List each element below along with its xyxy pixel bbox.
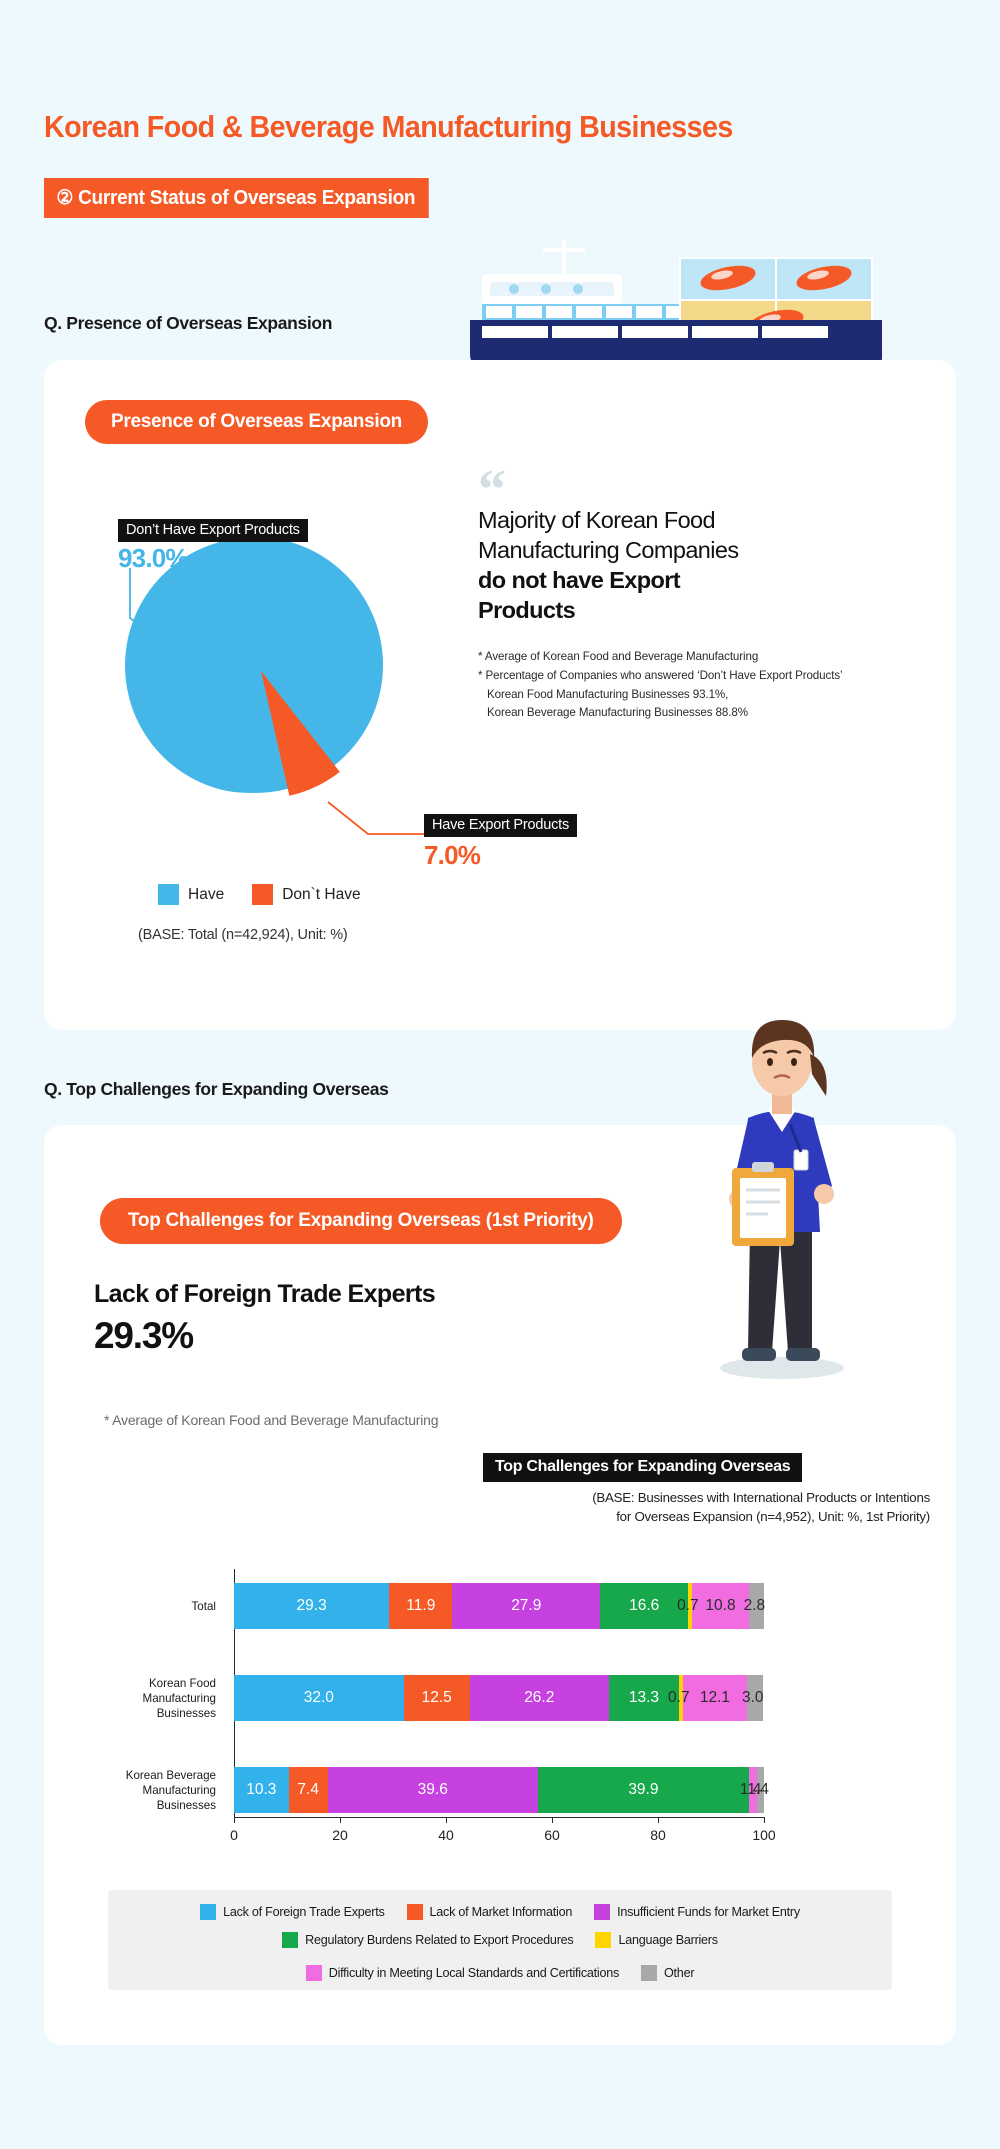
legend-swatch-dont-have	[252, 884, 273, 905]
legend-swatch	[594, 1904, 610, 1920]
headline-top-challenge-value: 29.3%	[94, 1315, 193, 1357]
bar-segment: 39.6	[328, 1767, 538, 1813]
legend-label-dont-have: Don`t Have	[282, 886, 360, 904]
legend-label: Lack of Market Information	[430, 1905, 573, 1919]
legend-item-have: Have	[158, 884, 224, 905]
x-axis-tick-label: 60	[544, 1827, 560, 1843]
bar-segment: 12.5	[404, 1675, 470, 1721]
bar-segment: 12.1	[683, 1675, 747, 1721]
bar-row-label: Korean BeverageManufacturingBusinesses	[94, 1768, 216, 1813]
section2-average-note: * Average of Korean Food and Beverage Ma…	[104, 1412, 438, 1428]
x-axis-tick-label: 80	[650, 1827, 666, 1843]
bar-segment-outside-value: 1.4	[747, 1781, 769, 1799]
bar-segment-outside-value: 2.8	[744, 1597, 766, 1615]
legend-item: Difficulty in Meeting Local Standards an…	[306, 1965, 619, 1981]
bar-segment: 26.2	[470, 1675, 609, 1721]
stacked-bar-chart: 29.311.927.916.610.832.012.526.213.312.1…	[44, 1555, 956, 1850]
quote-line-1: Majority of Korean Food	[478, 507, 715, 533]
x-axis-tick	[658, 1817, 659, 1823]
legend-item-dont-have: Don`t Have	[252, 884, 360, 905]
legend-label: Regulatory Burdens Related to Export Pro…	[305, 1933, 573, 1947]
bar-row-label-line: Korean Food	[94, 1676, 216, 1691]
headline-top-challenge: Lack of Foreign Trade Experts	[94, 1280, 435, 1309]
legend-label: Other	[664, 1966, 694, 1980]
bar-chart-legend: Lack of Foreign Trade ExpertsLack of Mar…	[108, 1890, 892, 1990]
bar-segment: 10.3	[234, 1767, 289, 1813]
legend-item: Other	[641, 1965, 694, 1981]
x-axis-tick	[552, 1817, 553, 1823]
base-line-2: for Overseas Expansion (n=4,952), Unit: …	[616, 1509, 930, 1524]
pill-presence-overseas: Presence of Overseas Expansion	[85, 400, 428, 444]
legend-item: Lack of Foreign Trade Experts	[200, 1904, 384, 1920]
legend-label: Lack of Foreign Trade Experts	[223, 1905, 384, 1919]
footnote-2: * Percentage of Companies who answered ‘…	[478, 669, 843, 682]
legend-item: Insufficient Funds for Market Entry	[594, 1904, 800, 1920]
legend-item: Language Barriers	[595, 1932, 717, 1948]
quote-text: Majority of Korean Food Manufacturing Co…	[478, 505, 778, 625]
callout-dont-have-value: 93.0%	[118, 543, 188, 574]
legend-swatch	[200, 1904, 216, 1920]
section1-footnotes: * Average of Korean Food and Beverage Ma…	[478, 648, 898, 723]
bar-segment-outside-value: 0.7	[668, 1689, 690, 1707]
legend-swatch	[407, 1904, 423, 1920]
legend-swatch-have	[158, 884, 179, 905]
legend-label-have: Have	[188, 886, 224, 904]
legend-label: Language Barriers	[618, 1933, 717, 1947]
bar-row-label: Korean FoodManufacturingBusinesses	[94, 1676, 216, 1721]
bar-segment-outside-value: 3.0	[742, 1689, 764, 1707]
pie-base-note: (BASE: Total (n=42,924), Unit: %)	[138, 927, 348, 943]
bar-segment: 29.3	[234, 1583, 389, 1629]
page-title: Korean Food & Beverage Manufacturing Bus…	[44, 110, 733, 145]
legend-label: Insufficient Funds for Market Entry	[617, 1905, 800, 1919]
x-axis-tick-label: 20	[332, 1827, 348, 1843]
pie-legend: Have Don`t Have	[158, 884, 379, 905]
x-axis-tick	[234, 1817, 235, 1823]
quote-line-3: do not have Export Products	[478, 567, 680, 623]
bar-chart-title: Top Challenges for Expanding Overseas	[483, 1453, 802, 1482]
legend-swatch	[282, 1932, 298, 1948]
bar-segment-outside-value: 0.7	[677, 1597, 699, 1615]
worker-illustration	[690, 1000, 870, 1390]
pill-top-challenges: Top Challenges for Expanding Overseas (1…	[100, 1198, 622, 1244]
bar-segment: 39.9	[538, 1767, 749, 1813]
bar-row-label-line: Businesses	[94, 1706, 216, 1721]
bar-row-label-line: Korean Beverage	[94, 1768, 216, 1783]
question-heading-1: Q. Presence of Overseas Expansion	[44, 313, 332, 334]
infographic-page: Korean Food & Beverage Manufacturing Bus…	[0, 0, 1000, 2149]
bar-row-label-line: Businesses	[94, 1798, 216, 1813]
footnote-4: Korean Beverage Manufacturing Businesses…	[478, 704, 898, 723]
legend-swatch	[306, 1965, 322, 1981]
x-axis-tick-label: 0	[230, 1827, 238, 1843]
bar-segment: 11.9	[389, 1583, 452, 1629]
bar-segment: 7.4	[289, 1767, 328, 1813]
footnote-1: * Average of Korean Food and Beverage Ma…	[478, 650, 758, 663]
bar-segment: 10.8	[692, 1583, 749, 1629]
bar-row-label-line: Total	[94, 1599, 216, 1614]
bar-segment: 27.9	[452, 1583, 600, 1629]
chart-x-axis	[234, 1817, 764, 1818]
callout-have-label: Have Export Products	[424, 814, 577, 837]
x-axis-tick	[764, 1817, 765, 1823]
footnote-3: Korean Food Manufacturing Businesses 93.…	[478, 686, 898, 705]
x-axis-tick-label: 100	[752, 1827, 775, 1843]
bar-row-label: Total	[94, 1599, 216, 1614]
callout-have-value: 7.0%	[424, 840, 480, 871]
legend-item: Regulatory Burdens Related to Export Pro…	[282, 1932, 573, 1948]
bar-row: 10.37.439.639.9	[234, 1767, 764, 1813]
legend-swatch	[641, 1965, 657, 1981]
x-axis-tick-label: 40	[438, 1827, 454, 1843]
section-badge: ② Current Status of Overseas Expansion	[44, 178, 429, 218]
x-axis-tick	[340, 1817, 341, 1823]
bar-segment: 32.0	[234, 1675, 404, 1721]
callout-dont-have-label: Don’t Have Export Products	[118, 519, 308, 542]
legend-label: Difficulty in Meeting Local Standards an…	[329, 1966, 619, 1980]
leader-line-have	[326, 800, 436, 850]
base-line-1: (BASE: Businesses with International Pro…	[592, 1490, 930, 1505]
question-heading-2: Q. Top Challenges for Expanding Overseas	[44, 1079, 389, 1100]
bar-row-label-line: Manufacturing	[94, 1691, 216, 1706]
quote-line-2: Manufacturing Companies	[478, 537, 739, 563]
legend-item: Lack of Market Information	[407, 1904, 573, 1920]
bar-segment: 16.6	[600, 1583, 688, 1629]
leader-line-dont-have	[126, 566, 206, 656]
x-axis-tick	[446, 1817, 447, 1823]
bar-chart-base-note: (BASE: Businesses with International Pro…	[410, 1488, 930, 1527]
bar-row-label-line: Manufacturing	[94, 1783, 216, 1798]
legend-swatch	[595, 1932, 611, 1948]
